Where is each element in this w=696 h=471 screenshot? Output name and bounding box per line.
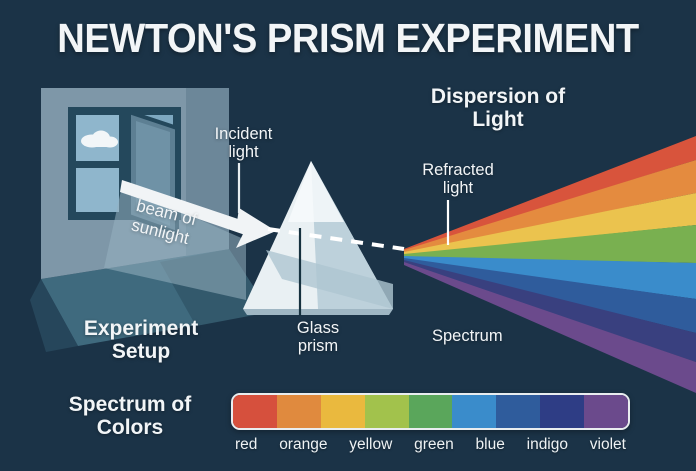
swatch-label-violet: violet xyxy=(590,436,626,454)
swatch-3 xyxy=(365,395,409,428)
prism-base-edge xyxy=(243,309,393,315)
color-swatch-bar xyxy=(231,393,630,430)
label-dispersion-of-light: Dispersion ofLight xyxy=(383,86,613,131)
swatch-7 xyxy=(540,395,584,428)
page-title: NEWTON'S PRISM EXPERIMENT xyxy=(24,16,671,60)
glass-prism xyxy=(243,161,404,315)
label-spectrum: Spectrum xyxy=(432,328,542,346)
swatch-label-blue: blue xyxy=(476,436,505,454)
swatch-2 xyxy=(321,395,365,428)
infographic-canvas: NEWTON'S PRISM EXPERIMENT Dispersion ofL… xyxy=(0,0,696,471)
swatch-5 xyxy=(452,395,496,428)
swatch-1 xyxy=(277,395,321,428)
label-incident-light: Incidentlight xyxy=(176,126,311,162)
window-pane-lower-left xyxy=(76,168,120,212)
swatch-0 xyxy=(233,395,277,428)
label-glass-prism: Glassprism xyxy=(258,320,378,356)
swatch-8 xyxy=(584,395,628,428)
swatch-4 xyxy=(409,395,453,428)
swatch-label-indigo: indigo xyxy=(527,436,568,454)
swatch-label-green: green xyxy=(414,436,454,454)
color-swatch-labels: redorangeyellowgreenblueindigoviolet xyxy=(231,434,630,456)
label-spectrum-of-colors: Spectrum ofColors xyxy=(30,394,230,439)
swatch-label-red: red xyxy=(235,436,257,454)
swatch-label-orange: orange xyxy=(279,436,327,454)
swatch-label-yellow: yellow xyxy=(349,436,392,454)
label-refracted-light: Refractedlight xyxy=(383,162,533,198)
swatch-6 xyxy=(496,395,540,428)
label-experiment-setup: ExperimentSetup xyxy=(36,318,246,363)
